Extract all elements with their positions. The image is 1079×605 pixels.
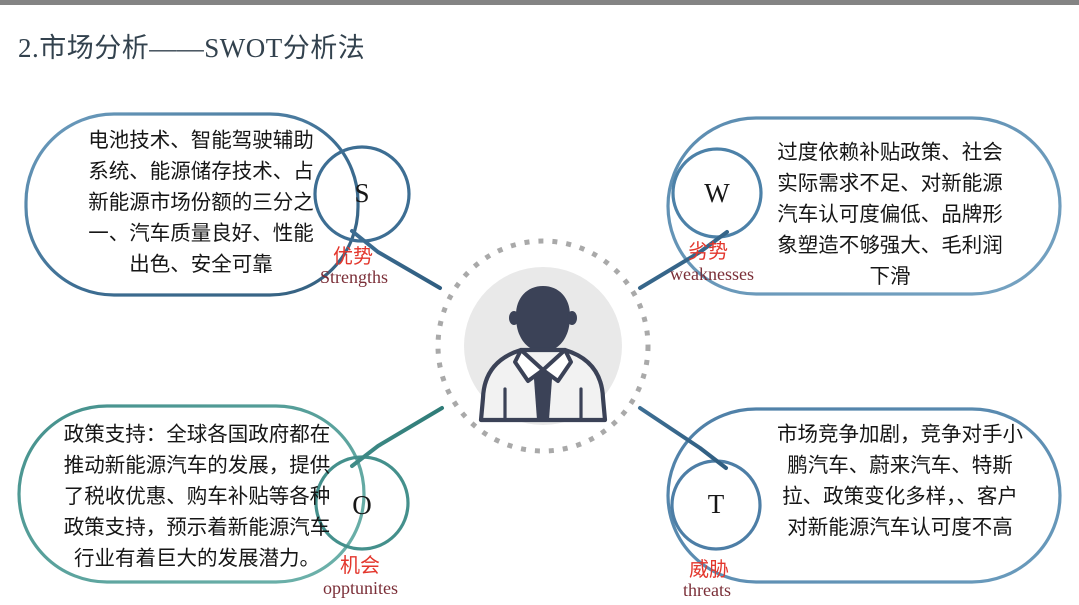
o-label-cn: 机会 [340,549,380,578]
center-hub[interactable] [438,241,648,451]
s-label-en: Strengths [320,267,388,288]
s-label-cn: 优势 [333,240,373,269]
s-letter: S [342,178,382,209]
t-body-text: 市场竞争加剧，竞争对手小 鹏汽车、蔚来汽车、特斯 拉、政策变化多样，、客户 对新… [755,420,1045,544]
o-letter: O [342,490,382,521]
t-label-cn: 威胁 [689,553,729,582]
t-connector-line [640,408,726,468]
t-letter: T [696,489,736,520]
swot-diagram-slide: 2.市场分析——SWOT分析法 [0,0,1079,605]
s-body-text: 电池技术、智能驾驶辅助 系统、能源储存技术、占 新能源市场份额的三分之 一、汽车… [56,126,346,281]
w-label-en: weaknesses [670,264,754,285]
w-body-text: 过度依赖补贴政策、社会 实际需求不足、对新能源 汽车认可度偏低、品牌形 象塑造不… [745,138,1035,293]
w-letter: W [697,178,737,209]
o-label-en: opptunites [323,578,398,599]
o-connector-line [352,408,442,466]
w-label-cn: 劣势 [688,235,728,264]
t-label-en: threats [683,580,731,601]
o-body-text: 政策支持：全球各国政府都在 推动新能源汽车的发展，提供 了税收优惠、购车补贴等各… [42,420,352,575]
